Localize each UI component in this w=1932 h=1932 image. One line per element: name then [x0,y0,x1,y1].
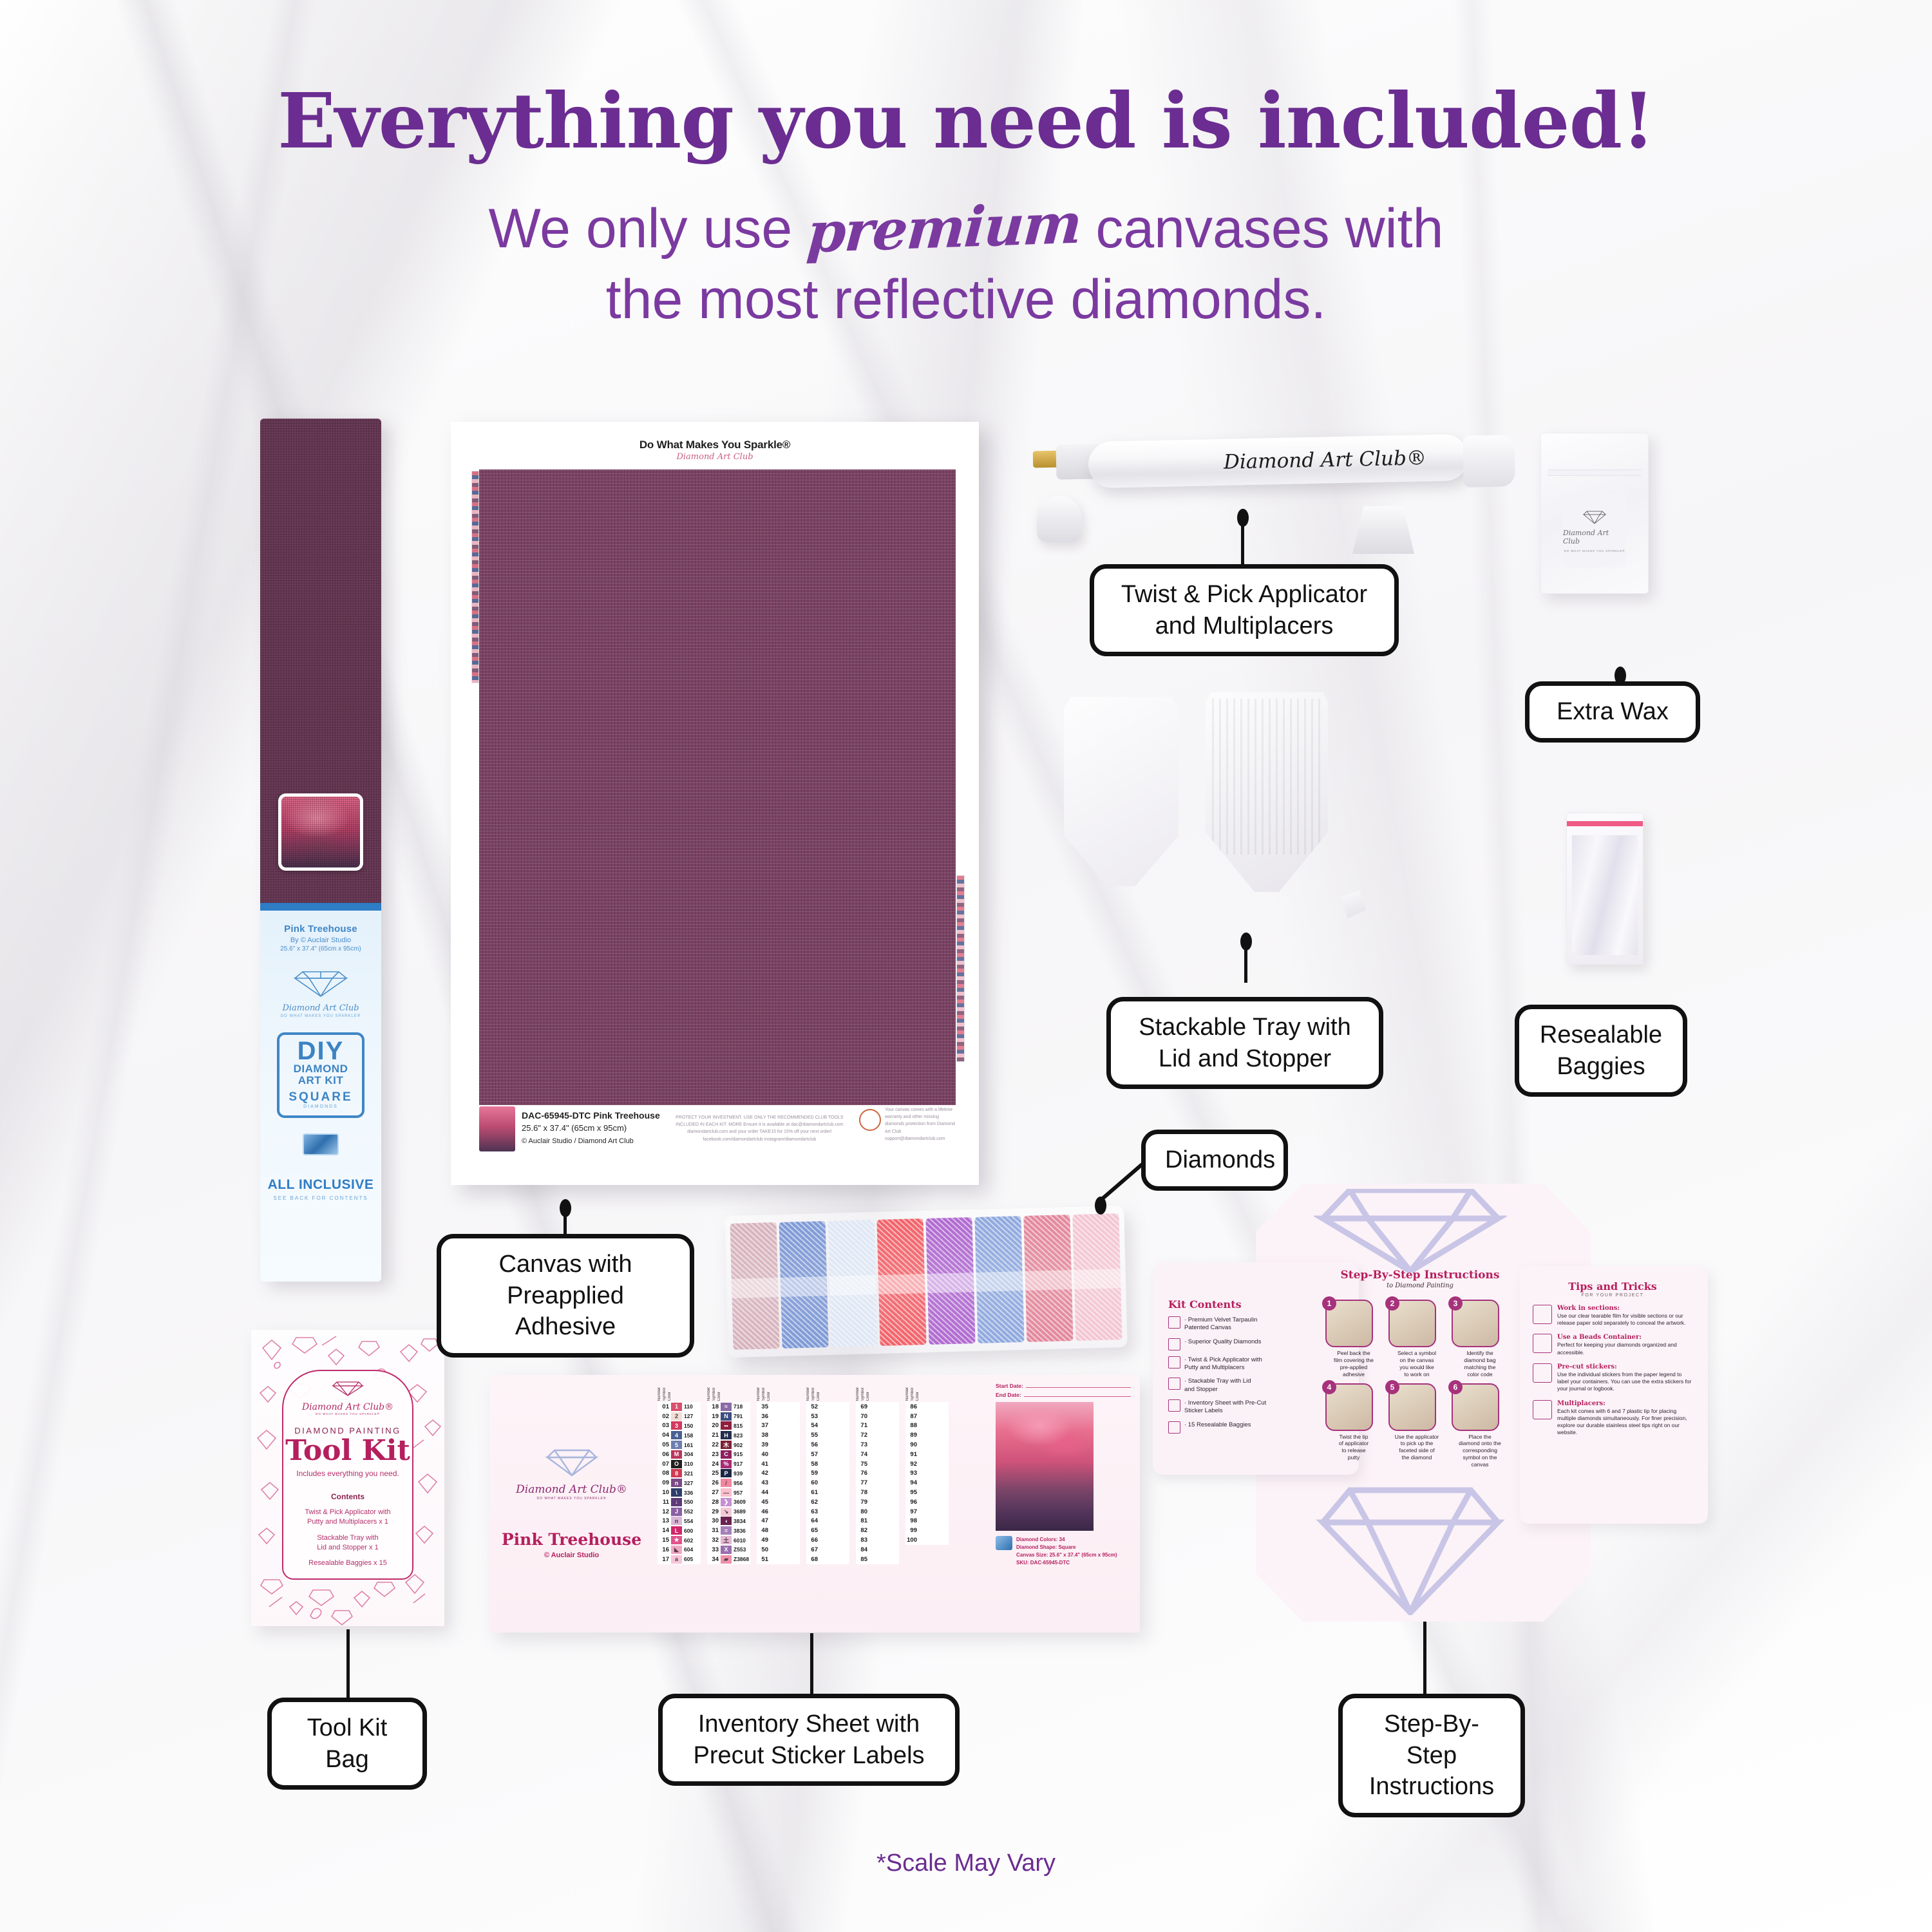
color-symbol: 土 [721,1536,732,1544]
table-row: 21H823 [707,1430,750,1440]
empty-cell [869,1555,899,1564]
table-row: 38 [757,1430,800,1440]
table-row: 18≈718 [707,1402,750,1412]
inventory-column-headers: NumberSymbolColor [905,1383,949,1402]
empty-cell [770,1403,800,1411]
color-code: 917 [734,1461,750,1467]
table-row: 19N791 [707,1412,750,1421]
bag-sheen [1025,1270,1072,1291]
row-number: 78 [856,1489,867,1496]
inventory-rows: 8687888990919293949596979899100 [905,1402,949,1545]
empty-cell [919,1403,949,1411]
leader-line [810,1633,813,1696]
column-header: Color [767,1392,771,1401]
pen-cap [1463,435,1515,488]
table-row: 011110 [658,1402,701,1412]
row-number: 74 [856,1451,867,1458]
empty-cell [919,1536,949,1544]
table-row: 75 [856,1459,899,1469]
column-header: Color [866,1392,870,1401]
bag-sheen [829,1275,876,1296]
color-symbol: J [671,1508,682,1516]
diamond-bag [779,1221,829,1349]
table-row: 16◣604 [658,1545,701,1555]
color-code: 605 [684,1556,701,1562]
color-code: 110 [684,1403,701,1410]
empty-cell [820,1555,849,1564]
row-number: 64 [806,1517,818,1524]
row-number: 25 [707,1470,719,1477]
table-row: 39 [757,1440,800,1450]
toolkit-title: Tool Kit [283,1437,412,1465]
color-symbol: ◣ [671,1546,682,1554]
canvas-footer-credit: © Auclair Studio / Diamond Art Club [522,1137,634,1145]
color-code: Z553 [734,1546,750,1553]
inventory-column-group: NumberSymbolColor69707172737475767778798… [856,1383,899,1629]
row-number: 84 [856,1546,867,1553]
canvas-header-script: Diamond Art Club [460,452,970,462]
empty-cell [770,1546,800,1554]
bag-sheen [781,1276,828,1297]
empty-cell [820,1431,849,1439]
callout-instructions[interactable]: Step-By-Step Instructions [1338,1694,1525,1817]
row-number: 38 [757,1432,768,1439]
package-kit-line2: ART KIT [282,1075,359,1086]
step-photo: 4 [1325,1383,1373,1431]
table-row: 42 [757,1469,800,1479]
empty-cell [820,1508,849,1516]
table-row: 65 [806,1526,849,1535]
row-number: 90 [905,1441,917,1448]
row-number: 91 [905,1451,917,1458]
subtitle-emphasis: premium [805,189,1083,269]
toolkit-content-item: Twist & Pick Applicator with Putty and M… [283,1508,412,1527]
table-row: 81 [856,1517,899,1526]
color-code: 161 [684,1442,701,1448]
package-shape: SQUARE [282,1090,359,1104]
table-row: 31=3836 [707,1526,750,1535]
empty-cell [770,1555,800,1564]
twist-pick-applicator: Diamond Art Club® [1088,434,1468,488]
row-number: 71 [856,1422,867,1429]
table-row: 62 [806,1497,849,1507]
table-row: 58 [806,1459,849,1469]
color-symbol: M [671,1450,682,1459]
empty-cell [770,1508,800,1516]
row-number: 81 [856,1517,867,1524]
row-number: 67 [806,1546,818,1553]
package-diamond-chip [303,1133,339,1155]
table-row: 54 [806,1421,849,1431]
empty-cell [919,1460,949,1468]
kit-contents-label: · Superior Quality Diamonds [1184,1338,1261,1346]
column-header: Color [817,1392,820,1401]
empty-cell [869,1517,899,1525]
row-number: 57 [806,1451,818,1458]
empty-cell [770,1450,800,1459]
end-date-field[interactable]: End Date: [996,1392,1131,1398]
column-header: Symbol [811,1388,815,1401]
instruction-step: 3Identify the diamond bag matching the c… [1452,1300,1508,1378]
diamond-bag [828,1220,877,1347]
row-number: 10 [658,1489,669,1496]
tip-item: Multiplacers:Each kit comes with 6 and 7… [1533,1400,1692,1437]
callout-applicator[interactable]: Twist & Pick Applicator and Multiplacers [1090,564,1399,656]
table-row: 36 [757,1412,800,1421]
diamond-bag [1023,1215,1073,1342]
color-code: 336 [684,1490,701,1496]
callout-diamonds[interactable]: Diamonds [1141,1130,1288,1191]
column-header: Number [707,1387,711,1401]
package-diy-text: DIY [282,1039,359,1063]
table-row: 22木902 [707,1440,750,1450]
row-number: 73 [856,1441,867,1448]
color-code: 3609 [734,1499,750,1505]
table-row: 27—957 [707,1488,750,1497]
row-number: 82 [856,1527,867,1534]
package-title: Pink Treehouse [260,923,381,934]
row-number: 62 [806,1499,818,1506]
inventory-rows: 5253545556575859606162636465666768 [806,1402,849,1564]
empty-cell [919,1450,949,1459]
row-number: 68 [806,1556,818,1563]
spec-sku: SKU: DAC-65945-DTC [1016,1559,1117,1567]
step-by-step-instruction-sheet: Step-By-Step Instructions to Diamond Pai… [1153,1184,1591,1622]
callout-extra-wax[interactable]: Extra Wax [1525,681,1700,743]
step-photo: 2 [1388,1300,1436,1347]
empty-cell [770,1536,800,1544]
row-number: 45 [757,1499,768,1506]
row-number: 23 [707,1451,719,1458]
empty-cell [869,1403,899,1411]
color-symbol: 1 [671,1403,682,1411]
color-symbol: C [721,1450,732,1459]
table-row: 07O310 [658,1459,701,1469]
instruction-step: 2Select a symbol on the canvas you would… [1388,1300,1445,1378]
empty-cell [919,1498,949,1506]
color-symbol: L [671,1526,682,1535]
inventory-column-group: NumberSymbolColor35363738394041424344454… [757,1383,800,1629]
toolkit-label: Diamond Art Club® DO WHAT MAKES YOU SPAR… [282,1370,413,1580]
toolkit-contents-heading: Contents [283,1492,412,1501]
table-row: 14L600 [658,1526,701,1535]
row-number: 21 [707,1432,719,1439]
row-number: 87 [905,1413,917,1420]
kit-contents-icon [1168,1338,1180,1350]
table-row: 32土6010 [707,1535,750,1545]
row-number: 20 [707,1422,719,1429]
kit-contents-icon [1168,1399,1180,1412]
table-row: 92 [905,1459,949,1469]
empty-cell [919,1517,949,1525]
row-number: 69 [856,1403,867,1410]
row-number: 47 [757,1517,768,1524]
color-code: 939 [734,1470,750,1477]
row-number: 32 [707,1537,719,1544]
column-header: Number [856,1387,860,1401]
step-caption: Place the diamond onto the corresponding… [1452,1434,1508,1468]
row-number: 27 [707,1489,719,1496]
instructions-subheading: to Diamond Painting [1314,1282,1526,1289]
color-code: 327 [684,1480,701,1486]
table-row: 25P939 [707,1469,750,1479]
tip-icon [1533,1363,1552,1383]
row-number: 11 [658,1499,669,1506]
table-row: 50 [757,1545,800,1555]
row-number: 100 [905,1537,917,1544]
table-row: 29↘3689 [707,1507,750,1517]
color-code: 150 [684,1423,701,1429]
row-number: 28 [707,1499,719,1506]
color-code: 310 [684,1461,701,1467]
empty-cell [919,1412,949,1421]
inventory-column-group: NumberSymbolColor01111002212703315004415… [658,1383,701,1629]
step-caption: Select a symbol on the canvas you would … [1388,1350,1445,1378]
row-number: 72 [856,1432,867,1439]
leader-line [1423,1622,1426,1695]
color-code: 158 [684,1432,701,1439]
table-row: 57 [806,1450,849,1459]
callout-tool-kit-bag[interactable]: Tool Kit Bag [267,1698,427,1790]
color-symbol: a [671,1555,682,1564]
inventory-cover-panel: Diamond Art Club® DO WHAT MAKES YOU SPAR… [489,1375,654,1633]
canvas-legend-right [956,875,965,1062]
color-code: 554 [684,1518,701,1524]
package-diy-badge: DIY DIAMOND ART KIT SQUARE DIAMONDS [277,1032,365,1118]
package-all-inclusive: ALL INCLUSIVE [260,1177,381,1193]
row-number: 36 [757,1413,768,1420]
subtitle-line2: the most reflective diamonds. [606,269,1327,330]
color-code: 127 [684,1413,701,1419]
empty-cell [820,1488,849,1497]
canvas-header-main: Do What Makes You Sparkle® [460,439,970,451]
row-number: 52 [806,1403,818,1410]
row-number: 55 [806,1432,818,1439]
color-code: Z3868 [734,1556,750,1562]
end-date-label: End Date: [996,1392,1021,1398]
table-row: 022127 [658,1412,701,1421]
empty-cell [770,1431,800,1439]
table-row: 98 [905,1517,949,1526]
toolkit-brand-script: Diamond Art Club® [283,1402,412,1412]
step-number: 4 [1322,1380,1336,1394]
kit-contents-icon [1168,1356,1180,1368]
kit-contents-label: · 15 Resealable Baggies [1184,1421,1251,1429]
row-number: 83 [856,1537,867,1544]
color-symbol: X [721,1546,732,1554]
table-row: 71 [856,1421,899,1431]
inventory-column-headers: NumberSymbolColor [658,1383,701,1402]
empty-cell [869,1508,899,1516]
color-symbol: % [721,1460,732,1468]
empty-cell [820,1546,849,1554]
inventory-color-table: NumberSymbolColor01111002212703315004415… [654,1375,992,1633]
inventory-column-headers: NumberSymbolColor [856,1383,899,1402]
empty-cell [770,1469,800,1477]
table-row: 15★602 [658,1535,701,1545]
row-number: 65 [806,1527,818,1534]
callout-canvas[interactable]: Canvas with Preapplied Adhesive [437,1234,694,1358]
step-number: 1 [1322,1296,1336,1311]
empty-cell [869,1460,899,1468]
color-symbol: n [671,1479,682,1487]
bag-sheen [927,1273,974,1293]
package-shape-sub: DIAMONDS [282,1104,359,1109]
table-row: 66 [806,1535,849,1545]
color-symbol: •• [721,1421,732,1430]
table-row: 24%917 [707,1459,750,1469]
color-symbol: — [721,1488,732,1497]
leader-line [346,1629,350,1698]
spec-colors: Diamond Colors: 34 [1016,1536,1117,1544]
tip-icon [1533,1305,1552,1324]
empty-cell [770,1517,800,1525]
row-number: 43 [757,1479,768,1486]
product-canvas: Do What Makes You Sparkle® Diamond Art C… [451,422,979,1185]
row-number: 24 [707,1461,719,1468]
callout-resealable-baggies[interactable]: Resealable Baggies [1515,1005,1687,1097]
color-code: 602 [684,1537,701,1544]
table-row: 86 [905,1402,949,1412]
package-artist: By © Auclair Studio [260,936,381,944]
canvas-legend-left [471,471,479,683]
color-symbol: ≈ [721,1403,732,1411]
table-row: 44 [757,1488,800,1497]
empty-cell [770,1441,800,1449]
step-number: 5 [1385,1380,1399,1394]
color-symbol: N [721,1412,732,1421]
inventory-rows: 01111002212703315004415805516106M30407O3… [658,1402,701,1564]
tip-icon [1533,1334,1552,1353]
empty-cell [869,1526,899,1535]
table-row: 95 [905,1488,949,1497]
start-date-field[interactable]: Start Date: [996,1383,1131,1389]
steps-grid: 1Peel back the film covering the pre-app… [1325,1300,1519,1468]
diamond-bag [974,1216,1024,1343]
color-symbol: ❯ [721,1498,732,1506]
callout-stackable-tray[interactable]: Stackable Tray with Lid and Stopper [1106,997,1383,1089]
kit-contents-label: · Premium Velvet Tarpaulin Patented Canv… [1184,1316,1257,1332]
step-caption: Identify the diamond bag matching the co… [1452,1350,1508,1378]
row-number: 14 [658,1527,669,1534]
inventory-sheet: Diamond Art Club® DO WHAT MAKES YOU SPAR… [489,1375,1140,1633]
diamond-icon [1582,509,1607,525]
row-number: 98 [905,1517,917,1524]
table-row: 34▰Z3868 [707,1555,750,1564]
diamond-icon [1314,1486,1507,1615]
color-symbol: = [721,1526,732,1535]
table-row: 72 [856,1430,899,1440]
color-symbol: O [671,1460,682,1468]
color-code: 3834 [734,1518,750,1524]
kit-contents-item: · Twist & Pick Applicator with Putty and… [1168,1356,1342,1372]
callout-inventory-sheet[interactable]: Inventory Sheet with Precut Sticker Labe… [658,1694,960,1786]
empty-cell [919,1508,949,1516]
diamond-icon [290,969,352,998]
step-number: 6 [1448,1380,1463,1394]
color-code: 956 [734,1480,750,1486]
tip-title: Pre-cut stickers: [1557,1363,1692,1370]
table-row: 61 [806,1488,849,1497]
table-row: 74 [856,1450,899,1459]
color-code: 823 [734,1432,750,1439]
row-number: 01 [658,1403,669,1410]
empty-cell [919,1431,949,1439]
spec-size: Canvas Size: 25.6" x 37.4" (65cm x 95cm) [1016,1551,1117,1559]
diamond-bags-strip [724,1206,1128,1358]
table-row: 78 [856,1488,899,1497]
row-number: 07 [658,1461,669,1468]
color-code: 321 [684,1470,701,1477]
empty-cell [869,1488,899,1497]
canvas-footer-right: Your canvas comes with a lifetime warran… [859,1106,956,1160]
table-row: 11↓550 [658,1497,701,1507]
wax-tagline: DO WHAT MAKES YOU SPARKLE® [1564,549,1625,553]
bag-sheen [732,1278,779,1298]
table-row: 70 [856,1412,899,1421]
table-row: 13n554 [658,1517,701,1526]
step-caption: Peel back the film covering the pre-appl… [1325,1350,1382,1378]
inventory-rows: 6970717273747576777879808182838485 [856,1402,899,1564]
row-number: 86 [905,1403,917,1410]
color-code: 915 [734,1451,750,1457]
color-code: 6010 [734,1537,750,1544]
row-number: 60 [806,1479,818,1486]
column-header: Symbol [762,1388,766,1401]
tip-item: Work in sections:Use our clear tearable … [1533,1305,1692,1327]
kit-contents-icon [1168,1421,1180,1434]
empty-cell [770,1498,800,1506]
table-row: 99 [905,1526,949,1535]
row-number: 99 [905,1527,917,1534]
package-kit-line1: DIAMOND [282,1063,359,1075]
empty-cell [820,1536,849,1544]
row-number: 56 [806,1441,818,1448]
color-symbol: ↓ [671,1498,682,1506]
row-number: 18 [707,1403,719,1410]
color-symbol: ↘ [721,1508,732,1516]
package-all-inclusive-sub: SEE BACK FOR CONTENTS [260,1195,381,1201]
table-row: 12J552 [658,1507,701,1517]
diamond-icon [544,1448,600,1477]
multiplacer-tip-2 [1352,506,1414,554]
bag-sheen [1074,1269,1121,1289]
inventory-column-group: NumberSymbolColor52535455565758596061626… [806,1383,849,1629]
kit-contents-label: · Stackable Tray with Lid and Stopper [1184,1378,1251,1394]
row-number: 34 [707,1556,719,1563]
row-number: 17 [658,1556,669,1563]
row-number: 75 [856,1461,867,1468]
table-row: 28❯3609 [707,1497,750,1507]
column-header: Symbol [911,1388,914,1401]
package-label: Pink Treehouse By © Auclair Studio 25.6"… [260,911,381,1282]
diamond-bag [730,1222,780,1350]
row-number: 03 [658,1422,669,1429]
row-number: 97 [905,1508,917,1515]
tip-item: Use a Beads Container:Perfect for keepin… [1533,1334,1692,1356]
multiplacer-tip-1 [1037,496,1082,542]
canvas-footer-warranty: Your canvas comes with a lifetime warran… [885,1106,956,1160]
leader-line [1241,514,1244,567]
table-row: 53 [806,1412,849,1421]
row-number: 39 [757,1441,768,1448]
tool-kit-bag: Diamond Art Club® DO WHAT MAKES YOU SPAR… [251,1330,444,1626]
empty-cell [919,1488,949,1497]
row-number: 93 [905,1470,917,1477]
empty-cell [869,1469,899,1477]
row-number: 46 [757,1508,768,1515]
color-symbol: 5 [671,1441,682,1449]
